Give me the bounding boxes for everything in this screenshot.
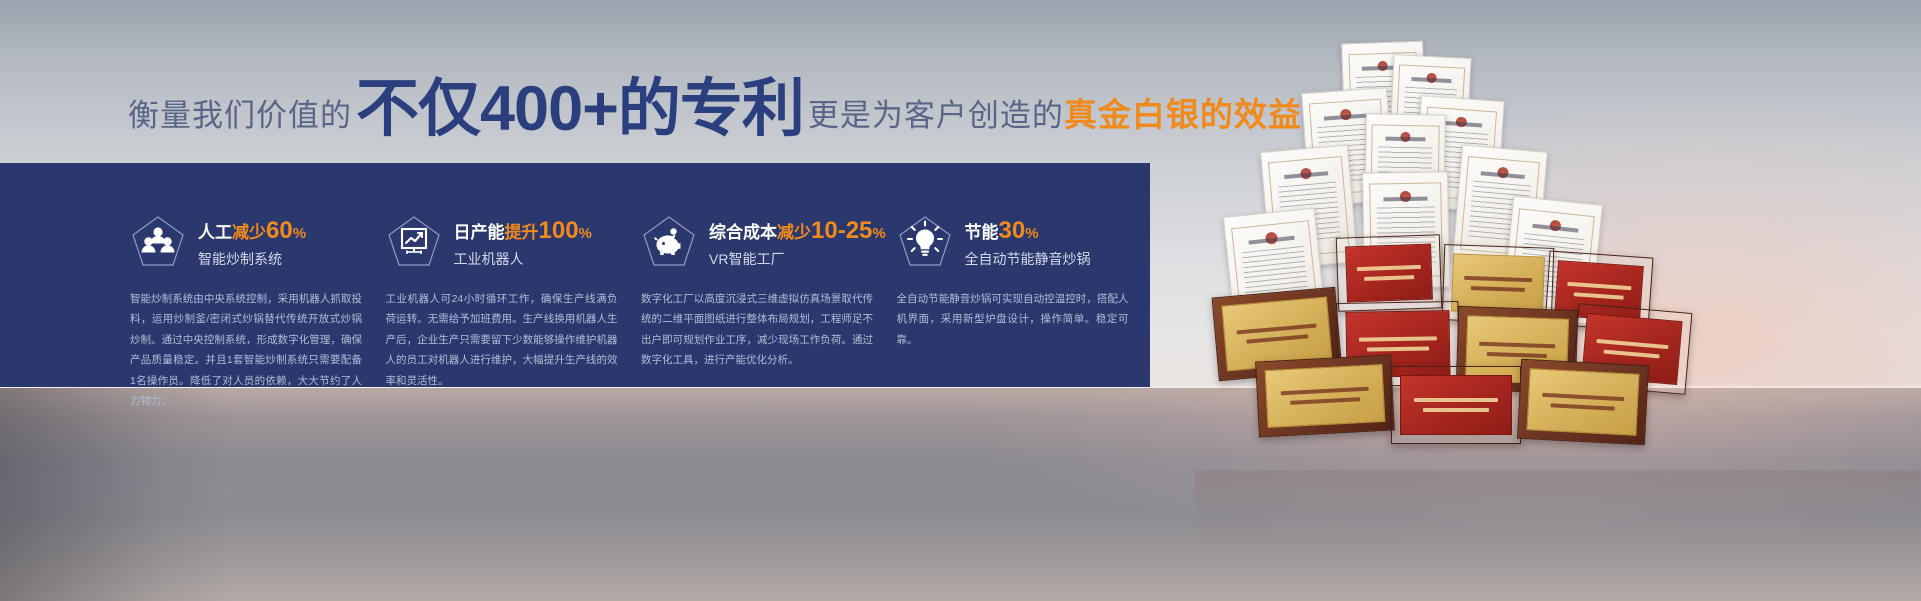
award-plaque bbox=[1336, 234, 1443, 312]
feature-title-unit: % bbox=[1025, 225, 1038, 242]
headline-lead: 衡量我们价值的 bbox=[128, 90, 352, 135]
feature-title-number: 100 bbox=[539, 217, 579, 244]
feature-titles: 人工减少60% 智能炒制系统 bbox=[198, 216, 306, 269]
feature-titles: 综合成本减少10-25% VR智能工厂 bbox=[709, 216, 886, 269]
feature-body: 全自动节能静音炒锅可实现自动控温控时，搭配人机界面，采用新型炉盘设计，操作简单。… bbox=[897, 289, 1129, 350]
chart-board-icon bbox=[386, 214, 442, 270]
feature-body: 数字化工厂以高度沉浸式三维虚拟仿真场景取代传统的二维平面图纸进行整体布局规划，工… bbox=[641, 289, 873, 371]
feature-title-plain: 日产能 bbox=[454, 223, 505, 242]
feature-title-unit: % bbox=[293, 225, 306, 242]
feature-item: 人工减少60% 智能炒制系统 智能炒制系统由中央系统控制，采用机器人抓取投料，运… bbox=[130, 163, 384, 387]
feature-body: 工业机器人可24小时循环工作，确保生产线满负荷运转。无需给予加班费用。生产线换用… bbox=[386, 289, 618, 391]
headline: 衡量我们价值的 不仅400+的专利 更是为客户创造的 真金白银的效益 bbox=[128, 74, 1302, 136]
award-plaque bbox=[1255, 354, 1395, 437]
feature-subtitle: 工业机器人 bbox=[454, 249, 592, 269]
people-group-icon bbox=[130, 214, 186, 270]
feature-header: 人工减少60% 智能炒制系统 bbox=[130, 211, 384, 273]
feature-title-unit: % bbox=[872, 225, 885, 242]
feature-title-accent: 减少 bbox=[777, 223, 811, 242]
piggy-bank-icon bbox=[641, 214, 697, 270]
feature-titles: 节能30% 全自动节能静音炒锅 bbox=[965, 216, 1091, 269]
feature-item: 综合成本减少10-25% VR智能工厂 数字化工厂以高度沉浸式三维虚拟仿真场景取… bbox=[641, 163, 895, 387]
feature-body: 智能炒制系统由中央系统控制，采用机器人抓取投料，运用炒制釜/密闭式炒锅替代传统开… bbox=[130, 289, 362, 412]
feature-title-accent: 减少 bbox=[232, 223, 266, 242]
feature-title-plain: 人工 bbox=[198, 223, 232, 242]
feature-titles: 日产能提升100% 工业机器人 bbox=[454, 216, 592, 269]
feature-title-number: 30 bbox=[999, 217, 1026, 244]
feature-title: 日产能提升100% bbox=[454, 216, 592, 246]
certificates-reflection bbox=[1195, 470, 1921, 580]
banner-stage: 衡量我们价值的 不仅400+的专利 更是为客户创造的 真金白银的效益 bbox=[0, 0, 1921, 601]
feature-title-plain: 综合成本 bbox=[709, 223, 777, 242]
feature-subtitle: VR智能工厂 bbox=[709, 249, 886, 269]
feature-title-number: 10-25 bbox=[811, 217, 872, 244]
headline-tail: 更是为客户创造的 bbox=[808, 90, 1064, 135]
feature-header: 日产能提升100% 工业机器人 bbox=[386, 211, 640, 273]
award-plaque bbox=[1517, 359, 1649, 446]
features-list: 人工减少60% 智能炒制系统 智能炒制系统由中央系统控制，采用机器人抓取投料，运… bbox=[0, 163, 1150, 387]
feature-title: 节能30% bbox=[965, 216, 1091, 246]
feature-title-unit: % bbox=[579, 225, 592, 242]
headline-highlight: 不仅400+的专利 bbox=[352, 78, 808, 141]
certificates-stack bbox=[1195, 40, 1921, 510]
feature-subtitle: 全自动节能静音炒锅 bbox=[965, 249, 1091, 269]
lightbulb-icon bbox=[897, 214, 953, 270]
feature-header: 综合成本减少10-25% VR智能工厂 bbox=[641, 211, 895, 273]
feature-title: 人工减少60% bbox=[198, 216, 306, 246]
feature-subtitle: 智能炒制系统 bbox=[198, 249, 306, 269]
feature-header: 节能30% 全自动节能静音炒锅 bbox=[897, 211, 1151, 273]
award-plaque bbox=[1391, 366, 1521, 444]
feature-title: 综合成本减少10-25% bbox=[709, 216, 886, 246]
sea-shadow-left bbox=[0, 388, 230, 601]
feature-item: 节能30% 全自动节能静音炒锅 全自动节能静音炒锅可实现自动控温控时，搭配人机界… bbox=[897, 163, 1151, 387]
feature-title-plain: 节能 bbox=[965, 223, 999, 242]
feature-title-number: 60 bbox=[266, 217, 293, 244]
feature-item: 日产能提升100% 工业机器人 工业机器人可24小时循环工作，确保生产线满负荷运… bbox=[386, 163, 640, 387]
feature-title-accent: 提升 bbox=[505, 223, 539, 242]
